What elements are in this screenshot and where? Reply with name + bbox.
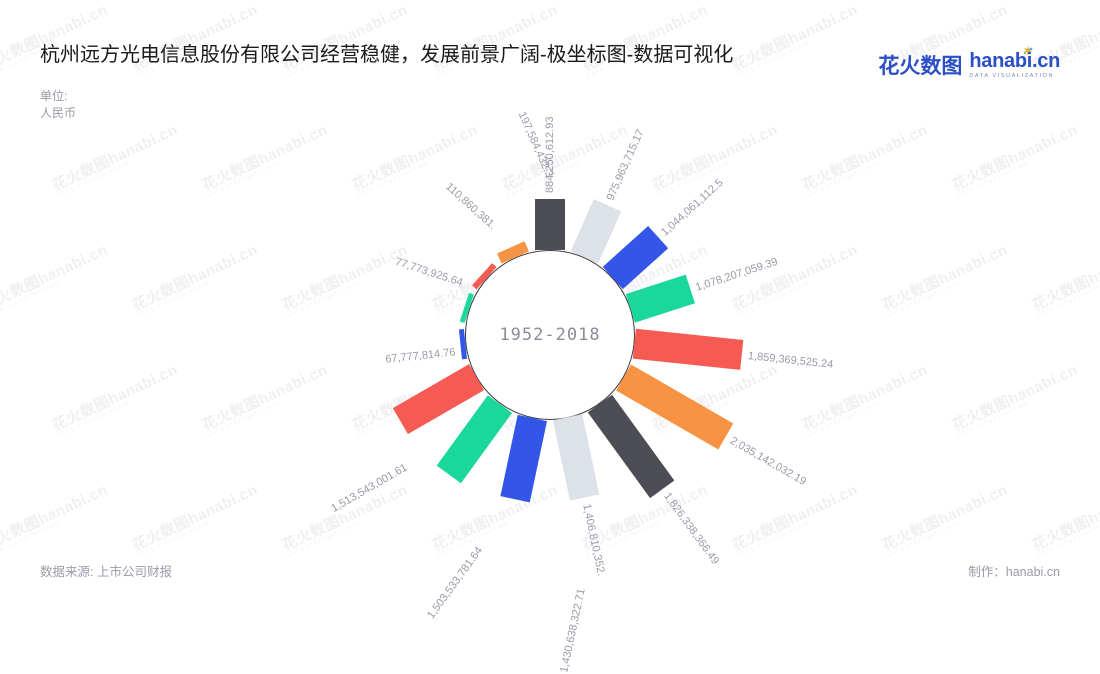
watermark: 花火数图hanabi.cnDATA VISUALIZATION [50, 122, 183, 199]
bar-value-label: 1,503,533,781.64 [425, 545, 485, 621]
chart-bar[interactable] [553, 415, 599, 501]
watermark: 花火数图hanabi.cnDATA VISUALIZATION [0, 482, 113, 559]
watermark: 花火数图hanabi.cnDATA VISUALIZATION [0, 242, 113, 319]
watermark: 花火数图hanabi.cnDATA VISUALIZATION [800, 362, 933, 439]
bar-value-label: 110,860,381. [443, 180, 498, 231]
bar-value-label: 2,035,142,032.19 [728, 434, 808, 487]
bar-value-label: 67,777,814.76 [384, 346, 455, 365]
bar-value-label: 1,430,638,322.71 [558, 588, 588, 674]
bar-value-label: 975,963,715.17 [605, 128, 647, 203]
bar-value-label: 77,773,925.64 [393, 256, 464, 289]
bar-value-label: 1,406,810,352. [580, 503, 607, 577]
credit-note: 制作：hanabi.cn [968, 561, 1060, 580]
watermark: 花火数图hanabi.cnDATA VISUALIZATION [1030, 242, 1100, 319]
chart-bar[interactable] [626, 275, 695, 323]
watermark: 花火数图hanabi.cnDATA VISUALIZATION [1030, 482, 1100, 559]
chart-bar[interactable] [535, 199, 565, 250]
brand-logo: 花火数图 hanabi.cn DATA VISUALIZATION [878, 50, 1060, 80]
brand-logo-en: hanabi.cn DATA VISUALIZATION [969, 51, 1060, 80]
chart-hub: 1952-2018 [465, 250, 635, 420]
chart-bar[interactable] [633, 329, 743, 370]
polar-plot-area: 1952-2018 884,250,612.93975,963,715.171,… [300, 120, 800, 550]
bar-value-label: 1,826,338,366.49 [661, 491, 721, 567]
watermark: 花火数图hanabi.cnDATA VISUALIZATION [880, 482, 1013, 559]
chart-center-label: 1952-2018 [466, 251, 634, 419]
watermark: 花火数图hanabi.cnDATA VISUALIZATION [950, 122, 1083, 199]
bar-value-label: 1,513,543,001.61 [329, 462, 409, 515]
watermark: 花火数图hanabi.cnDATA VISUALIZATION [880, 242, 1013, 319]
bar-value-label: 1,078,207,059.39 [694, 255, 779, 293]
brand-logo-cn: 花火数图 [878, 50, 962, 80]
chart-unit-label: 单位: 人民币 [40, 88, 82, 122]
brand-logo-tagline: DATA VISUALIZATION [969, 74, 1060, 80]
bar-value-label: 1,044,061,112.5 [659, 176, 726, 238]
chart-bar[interactable] [500, 415, 547, 502]
watermark: 花火数图hanabi.cnDATA VISUALIZATION [130, 242, 263, 319]
brand-logo-en-text: hanabi.cn [969, 51, 1060, 71]
chart-page: 花火数图hanabi.cnDATA VISUALIZATION花火数图hanab… [0, 0, 1100, 620]
bar-value-label: 1,859,369,525.24 [747, 350, 833, 371]
watermark: 花火数图hanabi.cnDATA VISUALIZATION [50, 362, 183, 439]
polar-bar-chart: 1952-2018 884,250,612.93975,963,715.171,… [300, 120, 800, 550]
watermark: 花火数图hanabi.cnDATA VISUALIZATION [800, 122, 933, 199]
page-title: 杭州远方光电信息股份有限公司经营稳健，发展前景广阔-极坐标图-数据可视化 [40, 40, 830, 70]
data-source-note: 数据来源: 上市公司财报 [40, 561, 172, 580]
watermark: 花火数图hanabi.cnDATA VISUALIZATION [950, 362, 1083, 439]
watermark: 花火数图hanabi.cnDATA VISUALIZATION [130, 482, 263, 559]
